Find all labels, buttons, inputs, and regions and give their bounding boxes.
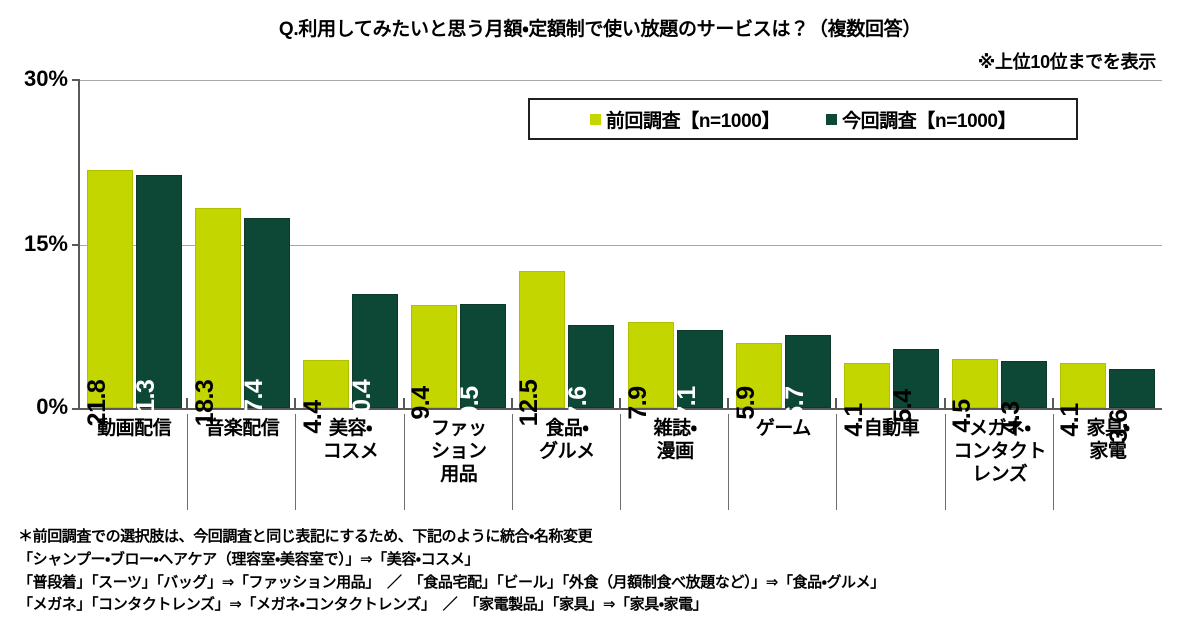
legend-swatch-icon-previous bbox=[590, 114, 601, 125]
bar-previous[interactable]: 12.5 bbox=[519, 271, 565, 408]
bar-previous[interactable]: 4.1 bbox=[1060, 363, 1106, 408]
category-label-text: 音楽配信 bbox=[205, 418, 279, 439]
category-label-text: 家具・家電 bbox=[1086, 418, 1129, 462]
category-axis: 動画配信音楽配信美容・コスメファッション用品食品・グルメ雑誌・漫画ゲーム自動車メ… bbox=[80, 414, 1162, 512]
bar-group: 18.317.4 bbox=[188, 80, 296, 408]
footnote-line-2: 「シャンプー・ブロー・ヘアケア（理容室・美容室で）」⇒「美容・コスメ」 bbox=[18, 549, 1188, 572]
footnote-line-4: 「メガネ」「コンタクトレンズ」⇒「メガネ・コンタクトレンズ」 ／ 「家電製品」「… bbox=[18, 594, 1188, 617]
category-label: 自動車 bbox=[837, 414, 945, 512]
bar-previous[interactable]: 4.4 bbox=[303, 360, 349, 408]
category-label: 美容・コスメ bbox=[296, 414, 404, 512]
footnotes: ＊前回調査での選択肢は、今回調査と同じ表記にするため、下記のように統合・名称変更… bbox=[18, 526, 1188, 617]
bar-current[interactable]: 9.5 bbox=[460, 304, 506, 408]
category-label: 雑誌・漫画 bbox=[621, 414, 729, 512]
legend-item-current: 今回調査【n=1000】 bbox=[826, 106, 1016, 133]
category-label-text: 動画配信 bbox=[97, 418, 171, 439]
legend-label-previous: 前回調査【n=1000】 bbox=[606, 106, 780, 133]
bar-current[interactable]: 7.6 bbox=[568, 325, 614, 408]
bar-current[interactable]: 4.3 bbox=[1001, 361, 1047, 408]
bar-previous[interactable]: 4.5 bbox=[952, 359, 998, 408]
bar-previous[interactable]: 5.9 bbox=[736, 343, 782, 408]
legend-item-previous: 前回調査【n=1000】 bbox=[590, 106, 780, 133]
category-label-text: 雑誌・漫画 bbox=[654, 418, 697, 462]
category-label: 食品・グルメ bbox=[513, 414, 621, 512]
bar-current[interactable]: 7.1 bbox=[677, 330, 723, 408]
y-axis-label-0: 0% bbox=[36, 394, 68, 420]
bar-current[interactable]: 21.3 bbox=[136, 175, 182, 408]
legend-label-current: 今回調査【n=1000】 bbox=[842, 106, 1016, 133]
category-label-text: 美容・コスメ bbox=[323, 418, 379, 462]
category-label-text: 自動車 bbox=[864, 418, 920, 439]
bar-previous[interactable]: 21.8 bbox=[87, 170, 133, 408]
category-label: メガネ・コンタクトレンズ bbox=[946, 414, 1054, 512]
y-tick-0 bbox=[72, 408, 80, 410]
y-tick-30 bbox=[72, 79, 80, 81]
category-label-text: メガネ・コンタクトレンズ bbox=[953, 418, 1046, 485]
category-label-text: 食品・グルメ bbox=[539, 418, 595, 462]
bar-current[interactable]: 10.4 bbox=[352, 294, 398, 408]
footnote-line-1: ＊前回調査での選択肢は、今回調査と同じ表記にするため、下記のように統合・名称変更 bbox=[18, 526, 1188, 549]
category-label: 音楽配信 bbox=[188, 414, 296, 512]
bar-current[interactable]: 17.4 bbox=[244, 218, 290, 408]
page-title: Q.利用してみたいと思う月額・定額制で使い放題のサービスは？（複数回答） bbox=[0, 14, 1200, 41]
legend-swatch-icon-current bbox=[826, 114, 837, 125]
chart-legend: 前回調査【n=1000】 今回調査【n=1000】 bbox=[528, 98, 1078, 140]
bar-current[interactable]: 5.4 bbox=[893, 349, 939, 408]
bar-previous[interactable]: 18.3 bbox=[195, 208, 241, 408]
y-axis-label-30: 30% bbox=[24, 66, 68, 92]
footnote-line-3: 「普段着」「スーツ」「バッグ」⇒「ファッション用品」 ／ 「食品宅配」「ビール」… bbox=[18, 572, 1188, 595]
category-label: 家具・家電 bbox=[1054, 414, 1162, 512]
bar-previous[interactable]: 4.1 bbox=[844, 363, 890, 408]
chart-page: Q.利用してみたいと思う月額・定額制で使い放題のサービスは？（複数回答） ※上位… bbox=[0, 0, 1200, 629]
bar-group: 9.49.5 bbox=[405, 80, 513, 408]
category-label-text: ファッション用品 bbox=[431, 418, 487, 485]
category-label: 動画配信 bbox=[80, 414, 188, 512]
category-label: ファッション用品 bbox=[405, 414, 513, 512]
category-label-text: ゲーム bbox=[756, 418, 811, 439]
chart-note: ※上位10位までを表示 bbox=[978, 48, 1156, 74]
y-tick-15 bbox=[72, 244, 80, 246]
bar-group: 21.821.3 bbox=[80, 80, 188, 408]
bar-group: 4.410.4 bbox=[296, 80, 404, 408]
bar-current[interactable]: 6.7 bbox=[785, 335, 831, 408]
bar-previous[interactable]: 7.9 bbox=[628, 322, 674, 408]
bar-previous[interactable]: 9.4 bbox=[411, 305, 457, 408]
y-axis-label-15: 15% bbox=[24, 231, 68, 257]
category-label: ゲーム bbox=[729, 414, 837, 512]
bar-current[interactable]: 3.6 bbox=[1109, 369, 1155, 408]
